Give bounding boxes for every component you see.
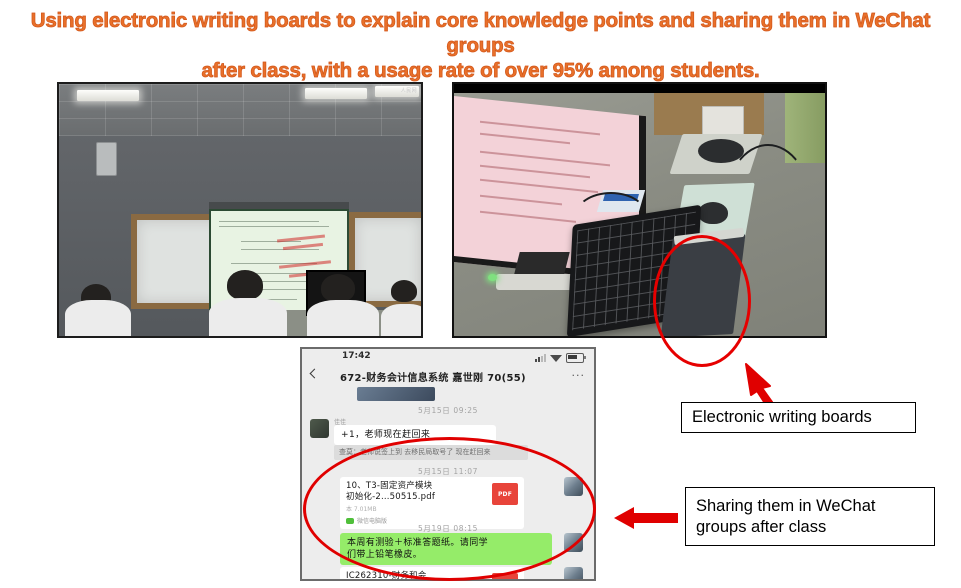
status-bar-icons [535, 353, 584, 363]
student-head [321, 274, 355, 302]
pdf-icon: PDF [492, 483, 518, 505]
headset [698, 139, 744, 163]
file-message[interactable]: IC262310-财务和会 计信息系...重点）.pdf 1558KB PDF … [340, 567, 524, 581]
back-icon[interactable] [310, 369, 320, 379]
wifi-icon [550, 355, 562, 362]
callout-label: Electronic writing boards [692, 408, 872, 427]
avatar[interactable] [564, 567, 583, 581]
text-message-bubble[interactable]: +1，老师现在赶回来 [334, 425, 496, 445]
student-body [381, 304, 423, 336]
page-title: Using electronic writing boards to expla… [8, 8, 953, 83]
chat-message-list[interactable]: 5月15日 09:25 佳佳 +1，老师现在赶回来 查莫：老师说签上到 去移民局… [302, 387, 594, 579]
avatar[interactable] [310, 419, 329, 438]
video-letterbox [454, 84, 825, 93]
wechat-chat-screenshot: 17:42 672-财务会计信息系统 嘉世刚 70(55) ··· 5月15日 … [300, 347, 596, 581]
callout-label: Sharing them in WeChat groups after clas… [696, 496, 875, 538]
phone-status-bar: 17:42 [302, 349, 594, 366]
projector-screen-roller [209, 202, 349, 209]
student-body [307, 300, 379, 336]
ceiling-light [305, 88, 367, 99]
file-name: 10、T3-固定资产模块 初始化-2...50515.pdf [346, 481, 474, 503]
callout-sharing-wechat: Sharing them in WeChat groups after clas… [685, 487, 935, 546]
desk-writing-board-photo [452, 82, 827, 338]
student-body [65, 300, 131, 336]
red-ellipse-writing-board [653, 235, 751, 367]
status-bar-time: 17:42 [342, 351, 371, 361]
battery-icon [566, 353, 584, 363]
student-head [391, 280, 417, 302]
callout-electronic-writing-boards: Electronic writing boards [681, 402, 916, 433]
chat-nav-bar: 672-财务会计信息系统 嘉世刚 70(55) ··· [302, 366, 594, 387]
wall-speaker [96, 142, 117, 176]
partial-image-message[interactable] [357, 387, 435, 401]
red-arrow-to-wechat [614, 505, 678, 531]
photo-watermark: 人民网 [401, 87, 417, 94]
file-size: 本 7.01MB [346, 504, 518, 513]
classroom-projector-photo: 人民网 [57, 82, 423, 338]
more-options-icon[interactable]: ··· [572, 373, 586, 379]
avatar[interactable] [564, 533, 583, 552]
student-head [227, 270, 263, 300]
quoted-message[interactable]: 查莫：老师说签上到 去移民局取号了 现在赶回来 [334, 445, 528, 460]
pdf-icon: PDF [492, 573, 518, 581]
desk-cable [724, 144, 812, 268]
signal-icon [535, 354, 546, 362]
desk-cable [574, 192, 648, 242]
red-arrow-to-board [744, 360, 790, 406]
message-timestamp: 5月15日 11:07 [302, 466, 594, 477]
file-message[interactable]: 10、T3-固定资产模块 初始化-2...50515.pdf 本 7.01MB … [340, 477, 524, 529]
message-timestamp: 5月15日 09:25 [302, 405, 594, 416]
chat-title: 672-财务会计信息系统 嘉世刚 70(55) [340, 369, 526, 384]
power-led [488, 274, 497, 281]
student-body [209, 298, 287, 336]
text-message-bubble[interactable]: 本周有测验＋标准答题纸。请同学 们带上铅笔橡皮。 [340, 533, 552, 565]
file-name: IC262310-财务和会 计信息系...重点）.pdf [346, 571, 474, 581]
avatar[interactable] [564, 477, 583, 496]
ceiling-light [77, 90, 139, 101]
